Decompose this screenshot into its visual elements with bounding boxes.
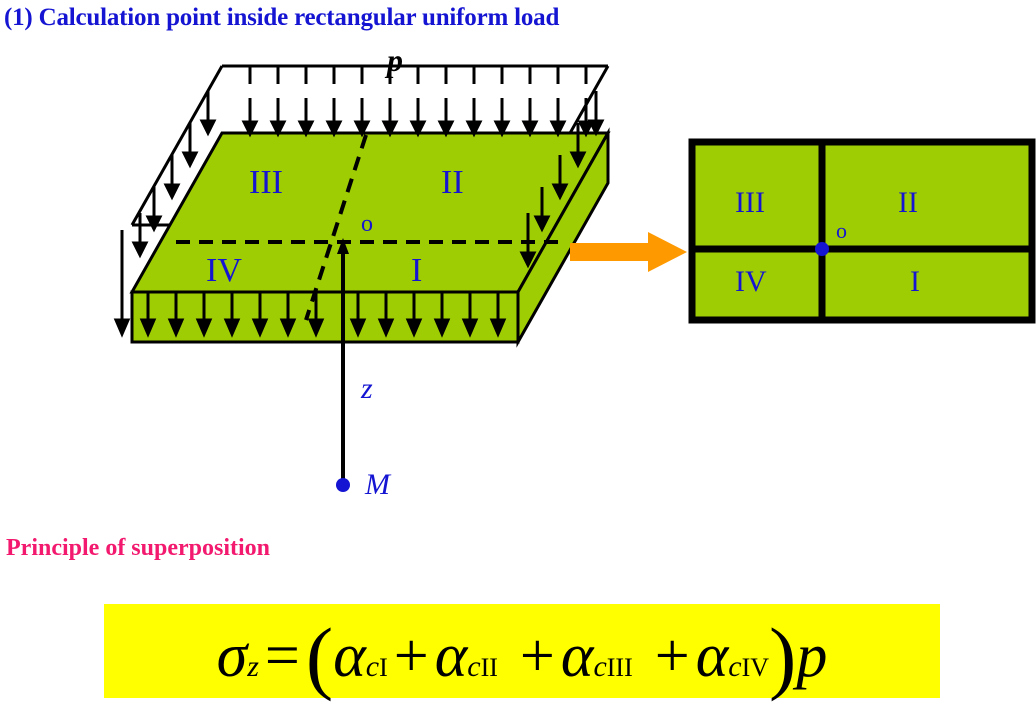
alpha-3-sub-roman: III bbox=[607, 653, 633, 682]
equals-sign: = bbox=[265, 625, 300, 687]
alpha-4-sub-c: c bbox=[728, 650, 741, 683]
alpha-3: α bbox=[561, 625, 594, 687]
label-load-p: p bbox=[387, 42, 403, 79]
close-paren: ) bbox=[769, 624, 796, 690]
label-point-M: M bbox=[365, 468, 390, 502]
alpha-2: α bbox=[435, 625, 468, 687]
page-title: (1) Calculation point inside rectangular… bbox=[4, 4, 559, 32]
load-arrows-top-row bbox=[244, 98, 592, 134]
label-quadrant-II-3d: II bbox=[441, 164, 464, 202]
open-paren: ( bbox=[306, 624, 333, 690]
sigma-symbol: σ bbox=[217, 625, 248, 687]
alpha-1-sub-c: c bbox=[366, 650, 379, 683]
plus-3: + bbox=[655, 625, 690, 687]
label-quadrant-III-3d: III bbox=[249, 164, 283, 202]
plan-label-I: I bbox=[910, 265, 920, 299]
plan-label-II: II bbox=[898, 186, 918, 220]
slide-canvas: (1) Calculation point inside rectangular… bbox=[0, 0, 1036, 705]
label-quadrant-I-3d: I bbox=[411, 252, 422, 290]
alpha-2-sub-c: c bbox=[467, 650, 480, 683]
alpha-3-sub-c: c bbox=[593, 650, 606, 683]
principle-heading: Principle of superposition bbox=[6, 535, 270, 562]
plan-view-rectangle bbox=[688, 138, 1036, 328]
plan-label-IV: IV bbox=[735, 265, 767, 299]
label-quadrant-IV-3d: IV bbox=[206, 252, 242, 290]
alpha-1: α bbox=[333, 625, 366, 687]
slab-front-face bbox=[132, 292, 518, 342]
plan-label-III: III bbox=[735, 186, 765, 220]
p-multiplier: p bbox=[796, 625, 827, 687]
superposition-formula: σz = ( αcI + αcII + αcIII + αcIV ) p bbox=[217, 616, 828, 687]
load-diagram-3d bbox=[0, 30, 640, 550]
alpha-2-sub-roman: II bbox=[481, 653, 498, 682]
label-z-axis: z bbox=[361, 372, 373, 406]
plus-1: + bbox=[394, 625, 429, 687]
alpha-4-sub-roman: IV bbox=[742, 653, 769, 682]
alpha-1-sub-roman: I bbox=[379, 653, 388, 682]
sigma-subscript: z bbox=[247, 652, 259, 682]
plan-label-origin: o bbox=[836, 218, 847, 244]
label-origin-3d: o bbox=[361, 211, 373, 238]
plus-2: + bbox=[520, 625, 555, 687]
transform-arrow bbox=[570, 230, 688, 274]
load-ticks-back bbox=[250, 66, 586, 84]
alpha-4: α bbox=[696, 625, 729, 687]
origin-dot bbox=[815, 242, 829, 256]
load-arrow-front-left-corner bbox=[116, 230, 128, 334]
formula-highlight-box: σz = ( αcI + αcII + αcIII + αcIV ) p bbox=[104, 604, 940, 698]
